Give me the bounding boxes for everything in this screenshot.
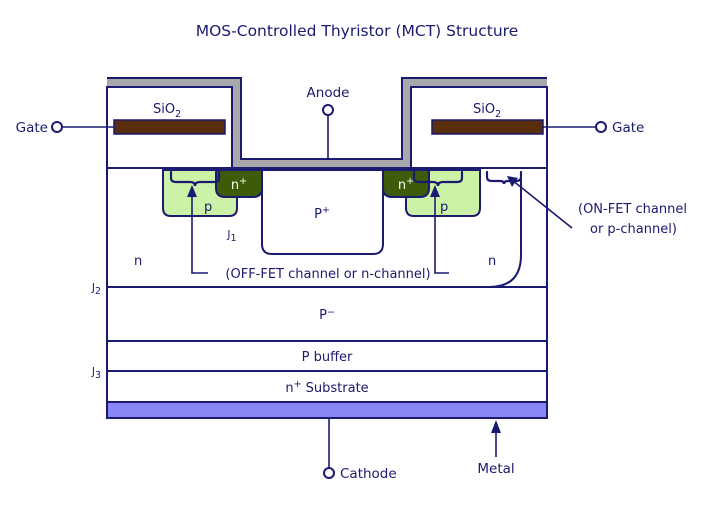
- cathode-metal-layer: [107, 402, 547, 418]
- anode-terminal[interactable]: [323, 105, 333, 115]
- off-fet-callout-label: (OFF-FET channel or n-channel): [225, 267, 430, 282]
- mct-structure-svg: MOS-Controlled Thyristor (MCT) Structure…: [0, 0, 714, 508]
- gate-terminal-left[interactable]: [52, 122, 62, 132]
- anode-metal-top-left: [107, 78, 241, 87]
- gate-terminal-right[interactable]: [596, 122, 606, 132]
- junction-label-j2: J2: [91, 282, 101, 297]
- n-region-label-right: n: [488, 254, 496, 269]
- off-fet-leader-left: [192, 248, 208, 273]
- junction-label-j3: J3: [91, 366, 101, 381]
- off-fet-leader-right: [435, 248, 449, 273]
- mct-diagram-root: MOS-Controlled Thyristor (MCT) Structure…: [0, 0, 714, 508]
- p-well-label-right: p: [440, 200, 448, 215]
- on-fet-callout-line2: or p-channel): [590, 222, 677, 237]
- anode-metal-trench-floor: [232, 159, 411, 168]
- p-minus-label: P−: [319, 307, 335, 323]
- p-buffer-label: P buffer: [302, 350, 353, 365]
- anode-label: Anode: [307, 85, 350, 101]
- anode-metal-post-left: [232, 78, 241, 168]
- metal-callout-label: Metal: [477, 461, 514, 477]
- gate-electrode-right: [432, 120, 543, 134]
- substrate-label: n+ Substrate: [285, 379, 368, 396]
- n-region-label-left: n: [134, 254, 142, 269]
- diagram-title: MOS-Controlled Thyristor (MCT) Structure: [196, 22, 519, 40]
- cathode-label: Cathode: [340, 466, 397, 482]
- anode-metal-top-right: [402, 78, 547, 87]
- anode-metal-post-right: [402, 78, 411, 168]
- n-well-boundary-right: [489, 172, 521, 287]
- on-fet-callout-line1: (ON-FET channel: [578, 202, 687, 217]
- p-well-label-left: p: [204, 200, 212, 215]
- metal-arrow-head: [491, 420, 501, 433]
- cathode-terminal[interactable]: [324, 468, 334, 478]
- junction-label-j1: J1: [226, 229, 236, 244]
- gate-label-right: Gate: [612, 120, 644, 136]
- gate-label-left: Gate: [16, 120, 48, 136]
- gate-electrode-left: [114, 120, 225, 134]
